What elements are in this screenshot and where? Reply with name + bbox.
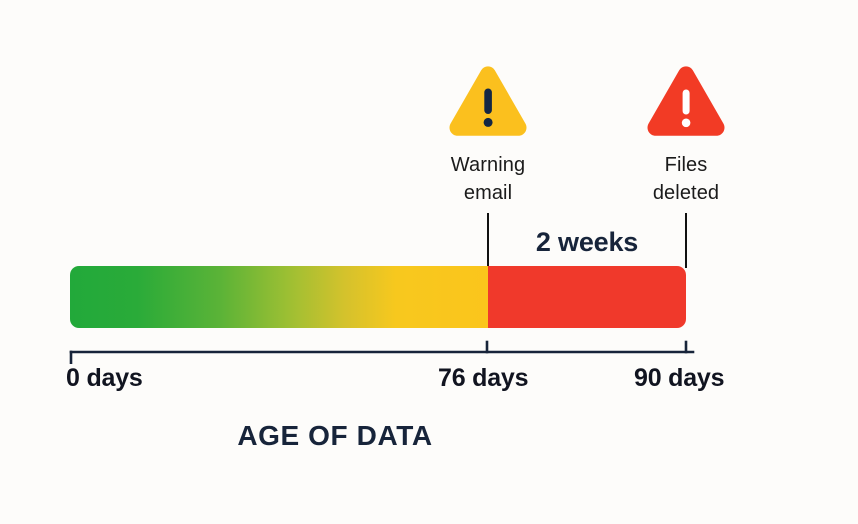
age-of-data-bar xyxy=(70,266,686,328)
marker-files-deleted-caption: Files deleted xyxy=(596,151,776,208)
axis-bracket xyxy=(62,340,702,364)
danger-triangle-icon xyxy=(645,64,727,142)
caption-line-2: deleted xyxy=(596,179,776,207)
bar-segment-warning-window xyxy=(488,266,686,328)
caption-line-1: Files xyxy=(596,151,776,179)
axis-label-76-days: 76 days xyxy=(438,364,528,393)
axis-label-90-days: 90 days xyxy=(634,364,724,393)
chart-title: AGE OF DATA xyxy=(0,420,670,452)
caption-line-2: email xyxy=(398,179,578,207)
warning-triangle-icon xyxy=(447,64,529,142)
age-of-data-infographic: Warning email Files deleted 2 weeks xyxy=(0,0,858,524)
bar-segment-retention xyxy=(70,266,488,328)
marker-warning-email-caption: Warning email xyxy=(398,151,578,208)
caption-line-1: Warning xyxy=(398,151,578,179)
marker-warning-email: Warning email xyxy=(398,64,578,208)
leader-line-deleted xyxy=(685,213,687,268)
leader-line-warning xyxy=(487,213,489,268)
span-label-two-weeks: 2 weeks xyxy=(495,227,679,258)
marker-files-deleted: Files deleted xyxy=(596,64,776,208)
axis-label-0-days: 0 days xyxy=(66,364,143,393)
